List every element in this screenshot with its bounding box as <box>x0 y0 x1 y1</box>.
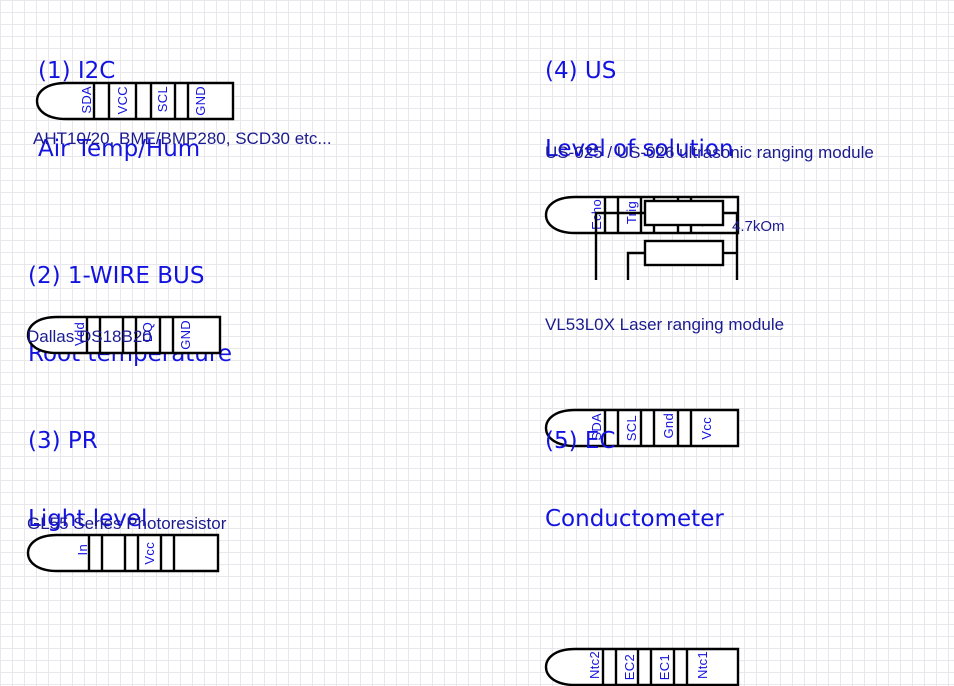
pin-label-vcc: Vcc <box>143 542 156 565</box>
connector-outline-icon <box>27 534 221 572</box>
resistor-value-label: 4.7kOm <box>732 218 785 235</box>
caption-one-wire: Dallas DS18B20 <box>27 327 152 347</box>
connector-outline-icon <box>545 648 741 686</box>
caption-i2c: AHT10/20, BME/BMP280, SCD30 etc... <box>33 129 332 149</box>
section-us-title: (4) US Level of solution <box>545 6 734 214</box>
pin-label-gnd: GND <box>179 320 192 350</box>
diagram-canvas: (1) I2C Air Temp/Hum SDA VCC SCL GND AHT… <box>0 0 954 556</box>
connector-ec[interactable]: Ntc2 EC2 EC1 Ntc1 <box>545 648 747 686</box>
pin-label-ec2: EC2 <box>623 654 636 680</box>
pin-label-sda: SDA <box>80 86 93 114</box>
pin-label-vcc: VCC <box>116 86 129 114</box>
caption-vl53l0x: VL53L0X Laser ranging module <box>545 315 784 335</box>
pin-label-ntc2: Ntc2 <box>588 651 601 679</box>
pin-label-gnd: GND <box>194 86 207 116</box>
connector-i2c[interactable]: SDA VCC SCL GND <box>36 82 238 120</box>
connector-pr[interactable]: In Vcc <box>27 534 229 572</box>
pin-label-ec1: EC1 <box>658 654 671 680</box>
pin-label-ntc1: Ntc1 <box>696 651 709 679</box>
caption-pr: GL55 Series Photoresistor <box>27 514 226 534</box>
title-ec: (5) EC Conductometer <box>545 376 724 584</box>
section-ec-title: (5) EC Conductometer <box>545 376 724 584</box>
pullup-wiring-icon <box>545 198 835 290</box>
pullup-resistor-network: 4.7kOm <box>545 198 835 290</box>
title-us: (4) US Level of solution <box>545 6 734 214</box>
caption-us: US-025 / US-026 ultrasonic ranging modul… <box>545 143 874 163</box>
pin-label-in: In <box>76 544 89 555</box>
pin-label-scl: SCL <box>156 86 169 112</box>
